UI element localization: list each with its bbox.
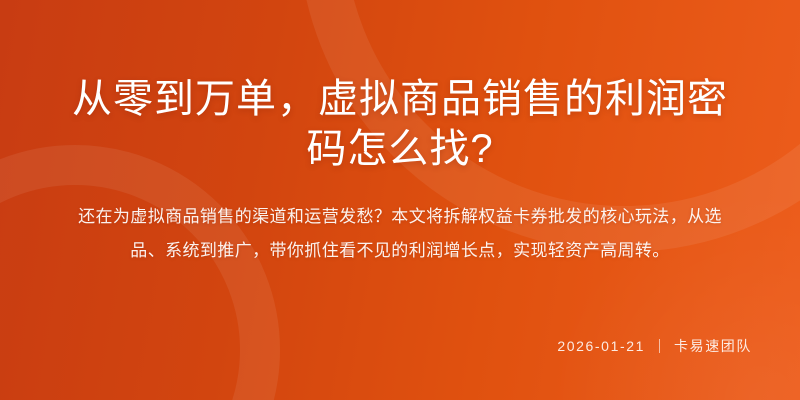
- article-cover-card: 从零到万单，虚拟商品销售的利润密码怎么找? 还在为虚拟商品销售的渠道和运营发愁？…: [0, 0, 800, 400]
- page-title: 从零到万单，虚拟商品销售的利润密码怎么找?: [58, 74, 742, 174]
- cover-content: 从零到万单，虚拟商品销售的利润密码怎么找? 还在为虚拟商品销售的渠道和运营发愁？…: [0, 0, 800, 400]
- page-subtitle: 还在为虚拟商品销售的渠道和运营发愁？本文将拆解权益卡券批发的核心玩法，从选品、系…: [73, 200, 728, 268]
